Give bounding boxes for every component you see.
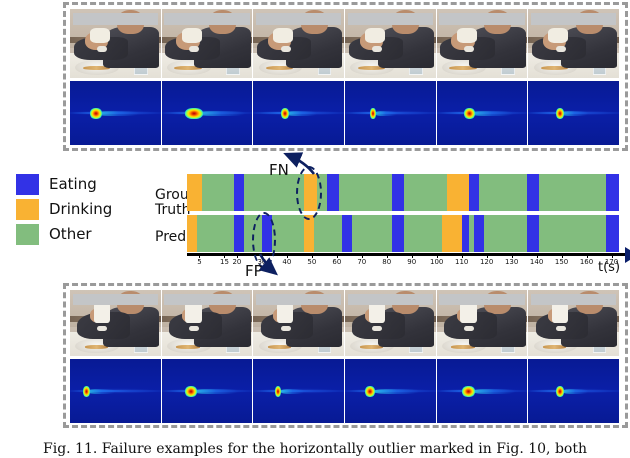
radar-hotspot [83, 386, 90, 398]
eating-frame-1 [70, 9, 161, 78]
radar-hotspot [556, 108, 564, 120]
eating-frame-3 [253, 9, 344, 78]
radar-hotspot [462, 386, 475, 398]
item-region [182, 28, 202, 43]
radar-hotspot [185, 108, 203, 120]
ground-truth-bar [187, 174, 624, 211]
radar-energy-tail [563, 389, 588, 393]
drinking-radar-6 [528, 359, 619, 423]
eating-radar-1 [70, 81, 161, 145]
watch-region [464, 326, 474, 331]
timeline-segment-drinking [187, 174, 202, 211]
timeline-segment-other [539, 174, 606, 211]
legend-item-drinking: Drinking [16, 197, 146, 222]
radar-energy-tail [375, 111, 397, 115]
eating-rgb-frame-strip [70, 9, 619, 78]
radar-hotspot [185, 386, 197, 398]
eating-radar-3 [253, 81, 344, 145]
timeline-segment-eating [606, 174, 618, 211]
timeline-segment-other [244, 215, 261, 252]
legend-item-eating: Eating [16, 172, 146, 197]
radar-energy-tail [198, 111, 245, 115]
redact-region [73, 294, 158, 305]
eating-frame-2 [162, 9, 253, 78]
timeline-segment-other [272, 215, 304, 252]
axis-tick-label: 70 [357, 258, 366, 266]
timeline-segment-drinking [442, 215, 462, 252]
timeline-segment-other [484, 215, 526, 252]
radar-energy-tail [194, 389, 238, 393]
radar-energy-tail [286, 111, 317, 115]
timeline-segment-eating [262, 215, 272, 252]
legend-label-other: Other [49, 227, 92, 242]
false-negative-arrow-icon [280, 150, 320, 176]
eating-frame-4 [345, 9, 436, 78]
time-axis-arrow-icon [625, 247, 630, 263]
legend-label-drinking: Drinking [49, 202, 112, 217]
timeline-segment-other [479, 174, 526, 211]
eating-radar-4 [345, 81, 436, 145]
prediction-bar [187, 215, 624, 252]
axis-tick-label: 90 [407, 258, 416, 266]
watch-region [372, 46, 382, 52]
redact-region [439, 294, 524, 305]
item-region [90, 28, 110, 43]
timeline-segment-other [197, 215, 234, 252]
radar-energy-tail [281, 389, 305, 393]
timeline-segment-eating [342, 215, 352, 252]
radar-energy-tail [374, 389, 419, 393]
axis-tick-label: 15 [220, 258, 229, 266]
activity-timeline: Ground Truth Prediction 5152030405060708… [155, 172, 625, 272]
timeline-segment-eating [392, 174, 404, 211]
timeline-segment-other [339, 174, 391, 211]
timeline-segment-other [317, 174, 327, 211]
legend-swatch-drinking [16, 199, 39, 220]
watch-region [556, 326, 566, 331]
timeline-segment-eating [392, 215, 404, 252]
watch-region [281, 46, 291, 52]
drinking-rgb-frame-strip [70, 290, 619, 356]
redact-region [348, 13, 433, 25]
timeline-segment-eating [462, 215, 469, 252]
watch-region [556, 46, 566, 52]
watch-region [189, 46, 199, 52]
timeline-segment-drinking [447, 174, 469, 211]
drinking-frame-6 [528, 290, 619, 356]
redact-region [256, 13, 341, 25]
activity-legend: EatingDrinkingOther [16, 172, 146, 247]
redact-region [531, 13, 616, 25]
radar-hotspot [556, 386, 564, 398]
drinking-frame-1 [70, 290, 161, 356]
redact-region [348, 294, 433, 305]
timeline-segment-other [314, 215, 341, 252]
radar-hotspot [370, 108, 375, 120]
timeline-segment-drinking [304, 174, 316, 211]
axis-tick-label: 100 [430, 258, 443, 266]
timeline-segment-eating [469, 174, 479, 211]
axis-tick-label: 20 [232, 258, 241, 266]
redact-region [439, 13, 524, 25]
eating-radar-frame-strip [70, 81, 619, 145]
axis-tick-label: 60 [332, 258, 341, 266]
eating-frame-5 [437, 9, 528, 78]
radar-hotspot [365, 386, 375, 398]
drinking-radar-2 [162, 359, 253, 423]
timeline-segment-other [352, 215, 392, 252]
timeline-segment-eating [234, 174, 244, 211]
axis-tick-label: 80 [382, 258, 391, 266]
axis-tick-label: 140 [530, 258, 543, 266]
drinking-frame-2 [162, 290, 253, 356]
redact-region [73, 13, 158, 25]
time-axis-unit-label: t(s) [598, 260, 620, 275]
radar-energy-tail [88, 389, 115, 393]
radar-energy-tail [471, 111, 513, 115]
watch-region [464, 46, 474, 52]
watch-region [97, 46, 107, 52]
timeline-segment-other [244, 174, 304, 211]
item-region [457, 28, 477, 43]
drinking-radar-5 [437, 359, 528, 423]
item-region [548, 28, 568, 43]
axis-tick-label: 50 [307, 258, 316, 266]
axis-tick-label: 120 [480, 258, 493, 266]
figure-caption: Fig. 11. Failure examples for the horizo… [0, 441, 630, 458]
timeline-segment-other [404, 215, 441, 252]
timeline-segment-eating [234, 215, 244, 252]
drinking-frame-5 [437, 290, 528, 356]
watch-region [372, 326, 382, 331]
timeline-segment-other [404, 174, 446, 211]
drinking-radar-4 [345, 359, 436, 423]
radar-energy-tail [473, 389, 515, 393]
eating-radar-6 [528, 81, 619, 145]
axis-tick-label: 130 [505, 258, 518, 266]
legend-label-eating: Eating [49, 177, 97, 192]
timeline-segment-eating [327, 174, 339, 211]
timeline-segment-eating [474, 215, 484, 252]
axis-tick-label: 160 [580, 258, 593, 266]
redact-region [531, 294, 616, 305]
axis-tick-label: 110 [455, 258, 468, 266]
drinking-example-panel [63, 283, 628, 428]
timeline-segment-eating [527, 215, 539, 252]
legend-item-other: Other [16, 222, 146, 247]
timeline-segment-other [202, 174, 234, 211]
timeline-segment-eating [606, 215, 618, 252]
watch-region [281, 326, 291, 331]
drinking-frame-4 [345, 290, 436, 356]
radar-hotspot [90, 108, 102, 120]
eating-radar-2 [162, 81, 253, 145]
drinking-radar-frame-strip [70, 359, 619, 423]
redact-region [164, 294, 249, 305]
item-region [273, 28, 293, 43]
watch-region [189, 326, 199, 331]
radar-hotspot [281, 108, 289, 120]
drinking-frame-3 [253, 290, 344, 356]
watch-region [97, 326, 107, 331]
eating-example-panel [63, 2, 628, 151]
radar-energy-tail [561, 111, 588, 115]
redact-region [256, 294, 341, 305]
eating-frame-6 [528, 9, 619, 78]
axis-tick-label: 150 [555, 258, 568, 266]
eating-radar-5 [437, 81, 528, 145]
drinking-radar-1 [70, 359, 161, 423]
timeline-segment-eating [527, 174, 539, 211]
axis-tick-label: 5 [197, 258, 201, 266]
false-positive-arrow-icon [258, 252, 288, 278]
timeline-segment-drinking [304, 215, 314, 252]
drinking-radar-3 [253, 359, 344, 423]
timeline-segment-drinking [187, 215, 197, 252]
legend-swatch-eating [16, 174, 39, 195]
timeline-segment-other [539, 215, 606, 252]
legend-swatch-other [16, 224, 39, 245]
item-region [365, 28, 385, 43]
radar-energy-tail [97, 111, 139, 115]
figure-container: EatingDrinkingOther Ground Truth Predict… [0, 0, 630, 458]
redact-region [164, 13, 249, 25]
radar-hotspot [464, 108, 475, 120]
